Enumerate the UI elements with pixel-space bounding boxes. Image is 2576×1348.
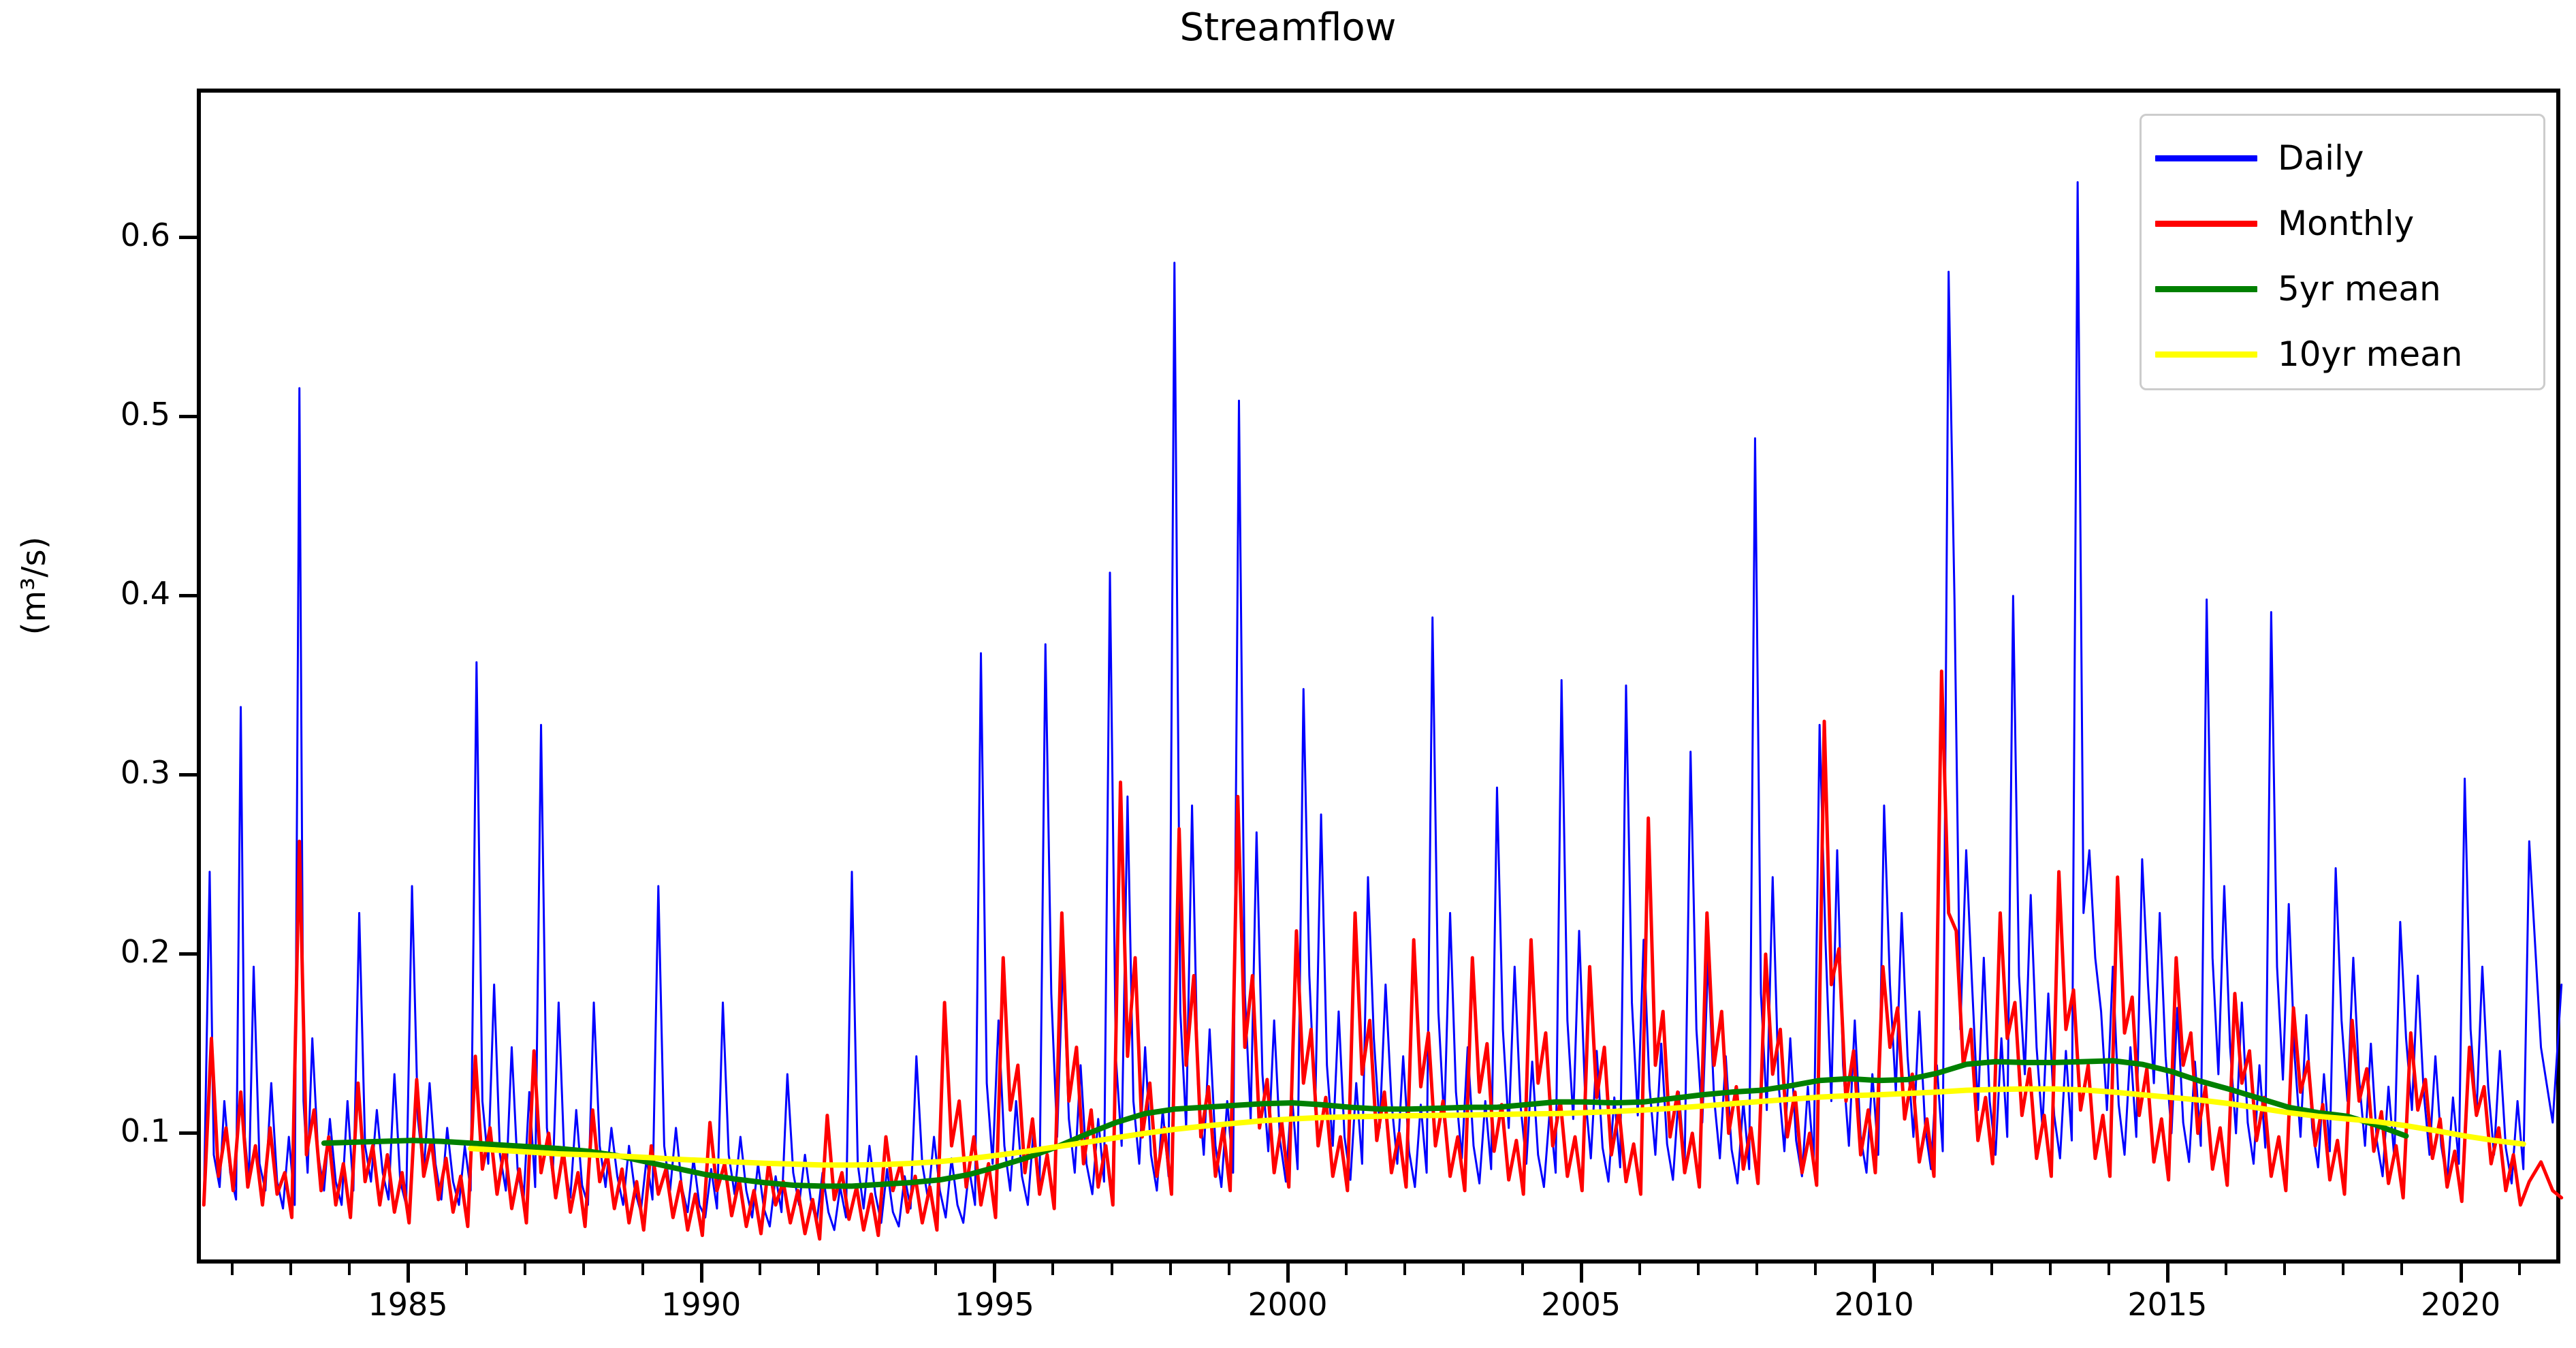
- x-tick-label: 1990: [613, 1286, 790, 1323]
- legend-swatch-icon: [2155, 155, 2257, 161]
- y-tick-label: 0.1: [41, 1112, 170, 1149]
- y-tick-label: 0.6: [41, 217, 170, 253]
- legend-item-10yr-mean[interactable]: 10yr mean: [2155, 322, 2530, 387]
- y-tick-label: 0.2: [41, 933, 170, 970]
- page-title: Streamflow: [0, 5, 2576, 50]
- y-tick-label: 0.5: [41, 396, 170, 433]
- x-tick-label: 2010: [1785, 1286, 1962, 1323]
- y-tick-label: 0.3: [41, 754, 170, 791]
- legend-swatch-icon: [2155, 221, 2257, 227]
- x-tick-label: 2005: [1493, 1286, 1670, 1323]
- legend-label: Daily: [2278, 141, 2364, 175]
- y-tick-mark: [179, 594, 197, 597]
- legend-swatch-icon: [2155, 351, 2257, 358]
- legend[interactable]: DailyMonthly5yr mean10yr mean: [2140, 114, 2545, 390]
- x-tick-label: 1985: [319, 1286, 496, 1323]
- legend-label: 5yr mean: [2278, 272, 2441, 306]
- legend-item-5yr-mean[interactable]: 5yr mean: [2155, 256, 2530, 322]
- legend-item-daily[interactable]: Daily: [2155, 125, 2530, 191]
- legend-label: 10yr mean: [2278, 337, 2462, 371]
- legend-swatch-icon: [2155, 286, 2257, 292]
- x-tick-label: 2020: [2372, 1286, 2549, 1323]
- legend-item-monthly[interactable]: Monthly: [2155, 191, 2530, 256]
- y-tick-label: 0.4: [41, 575, 170, 612]
- y-tick-mark: [179, 773, 197, 777]
- y-tick-mark: [179, 415, 197, 418]
- legend-label: Monthly: [2278, 206, 2414, 240]
- y-tick-mark: [179, 1131, 197, 1135]
- y-tick-mark: [179, 236, 197, 239]
- figure: Streamflow (m³/s) 0.10.20.30.40.50.6 198…: [0, 0, 2576, 1348]
- x-tick-label: 2000: [1199, 1286, 1376, 1323]
- x-tick-label: 2015: [2079, 1286, 2256, 1323]
- y-tick-mark: [179, 952, 197, 956]
- x-tick-label: 1995: [906, 1286, 1083, 1323]
